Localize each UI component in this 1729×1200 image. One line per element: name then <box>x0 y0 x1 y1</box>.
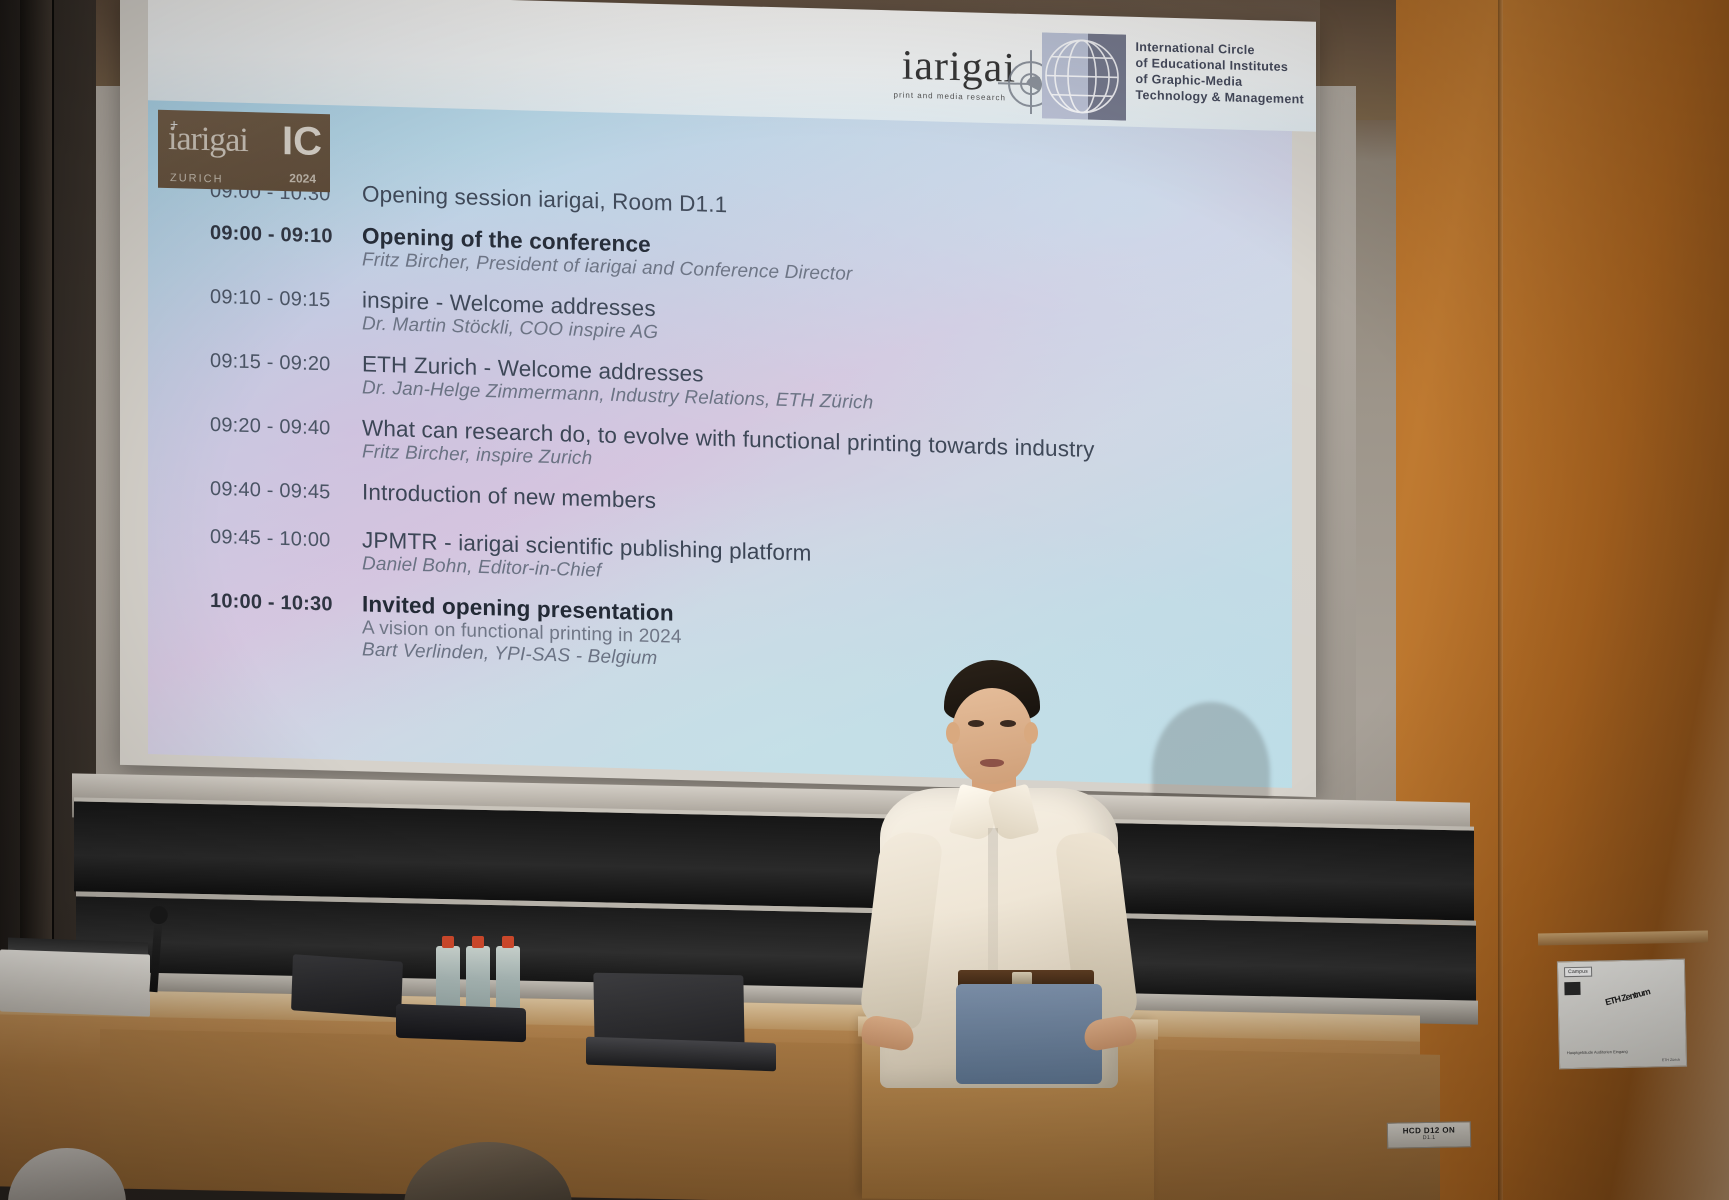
item-time: 09:15 - 09:20 <box>210 350 362 378</box>
presenter <box>862 660 1152 1080</box>
corner-year: 2024 <box>289 171 316 186</box>
item-time: 09:40 - 09:45 <box>210 478 362 506</box>
room-door-label: HCD D12 ON D1.1 <box>1387 1121 1471 1148</box>
iarigai-tagline: print and media research <box>894 90 1007 102</box>
door-label-line2: D1.1 <box>1388 1134 1470 1141</box>
item-time: 09:00 - 09:10 <box>210 222 362 250</box>
presenter-ear-right <box>1024 722 1038 744</box>
sign-footer: ETH Zürich <box>1662 1058 1680 1062</box>
item-time: 09:10 - 09:15 <box>210 286 362 314</box>
printer <box>0 949 150 1016</box>
globe-icon <box>1042 32 1126 120</box>
right-wall-seam <box>1498 0 1503 1200</box>
sign-legend: Hauptgebäude Auditorien Eingang <box>1567 1049 1628 1056</box>
corner-brand: iarigai <box>168 120 248 160</box>
item-time: 10:00 - 10:30 <box>210 590 362 618</box>
iarigai-ic-corner-logo: + iarigai IC ZURICH 2024 <box>158 110 330 193</box>
sign-title: Campus <box>1564 967 1592 978</box>
item-time: 09:20 - 09:40 <box>210 414 362 442</box>
left-wall-column <box>20 0 54 980</box>
cable-box <box>396 1004 526 1043</box>
presenter-ear-left <box>946 722 960 744</box>
item-time: 09:45 - 10:00 <box>210 526 362 554</box>
corner-ic: IC <box>282 119 322 165</box>
presenter-shirt-placket <box>988 828 998 992</box>
sign-map-label: ETH Zentrum <box>1604 987 1650 1006</box>
secondary-laptop <box>291 954 403 1018</box>
presenter-jeans <box>956 984 1102 1084</box>
presenter-face <box>952 688 1032 784</box>
presenter-eye-right <box>1000 720 1016 727</box>
lecture-hall-scene: 09:00 - 10:30 Opening session iarigai, R… <box>0 0 1729 1200</box>
campus-map-sign: Campus ETH Zentrum Hauptgebäude Auditori… <box>1557 959 1687 1070</box>
org-line-4: Technology & Management <box>1136 87 1305 108</box>
agenda-list: 09:00 - 10:30 Opening session iarigai, R… <box>210 177 1220 687</box>
sign-badge-icon <box>1564 982 1580 995</box>
corner-city: ZURICH <box>170 172 224 185</box>
international-circle-text: International Circle of Educational Inst… <box>1136 39 1305 108</box>
presenter-mouth <box>980 759 1004 767</box>
presenter-eye-left <box>968 720 984 727</box>
